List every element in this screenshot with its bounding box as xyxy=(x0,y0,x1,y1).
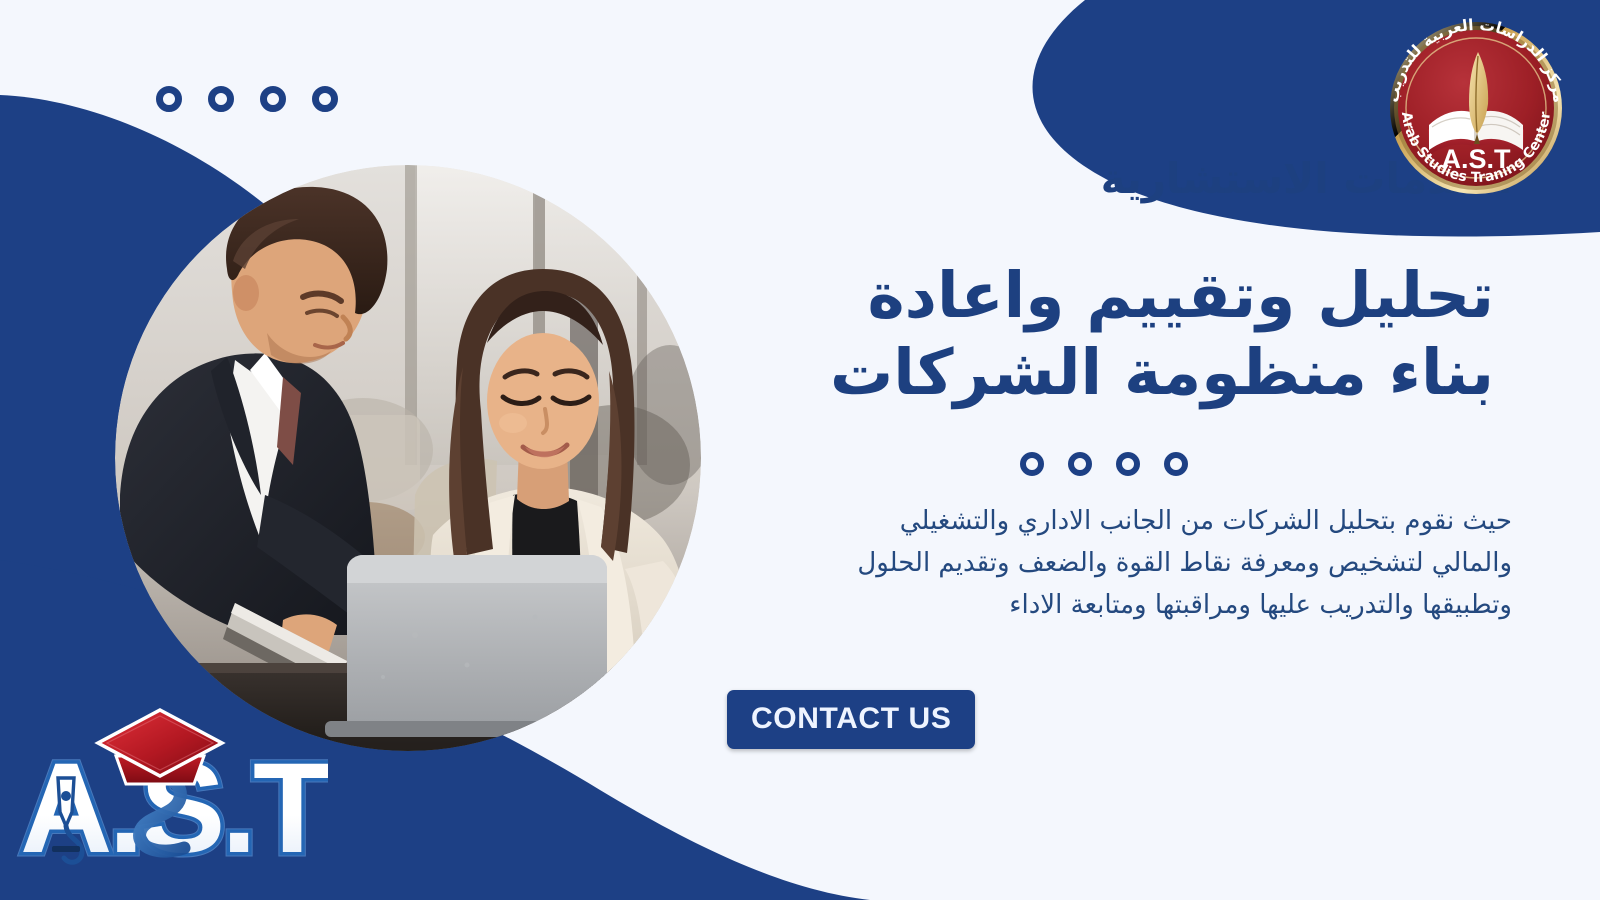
description-line-2: والمالي لتشخيص ومعرفة نقاط القوة والضعف … xyxy=(772,542,1512,584)
page-title: تحليل وتقييم واعادة بناء منظومة الشركات xyxy=(804,258,1494,412)
page-title-line-1: تحليل وتقييم واعادة xyxy=(804,258,1494,335)
decorative-ring xyxy=(1068,452,1092,476)
decorative-dots-middle xyxy=(1020,452,1188,476)
team-photo xyxy=(115,165,701,751)
description-line-1: حيث نقوم بتحليل الشركات من الجانب الادار… xyxy=(772,500,1512,542)
decorative-ring xyxy=(1116,452,1140,476)
banner-canvas: الخدمات الاستشارية تحليل وتقييم واعادة ب… xyxy=(0,0,1600,900)
ast-wordmark-logo: A.S.T A.S.T A.S.T xyxy=(8,700,328,900)
ast-wordmark-illustration: A.S.T A.S.T A.S.T xyxy=(8,700,328,900)
decorative-ring xyxy=(156,86,182,112)
description-paragraph: حيث نقوم بتحليل الشركات من الجانب الادار… xyxy=(772,500,1512,626)
decorative-ring xyxy=(312,86,338,112)
seal-initials: A.S.T xyxy=(1441,144,1511,174)
ast-seal-logo: مركز الدراسات العربية للتدريب Arab Studi… xyxy=(1372,8,1580,198)
decorative-dots-top xyxy=(156,86,338,112)
decorative-ring xyxy=(1164,452,1188,476)
decorative-ring xyxy=(1020,452,1044,476)
team-photo-illustration xyxy=(115,165,701,751)
contact-us-button[interactable]: CONTACT US xyxy=(727,690,975,749)
description-line-3: وتطبيقها والتدريب عليها ومراقبتها ومتابع… xyxy=(772,584,1512,626)
decorative-ring xyxy=(260,86,286,112)
ast-seal-illustration: مركز الدراسات العربية للتدريب Arab Studi… xyxy=(1372,8,1580,198)
decorative-ring xyxy=(208,86,234,112)
page-title-line-2: بناء منظومة الشركات xyxy=(804,335,1494,412)
